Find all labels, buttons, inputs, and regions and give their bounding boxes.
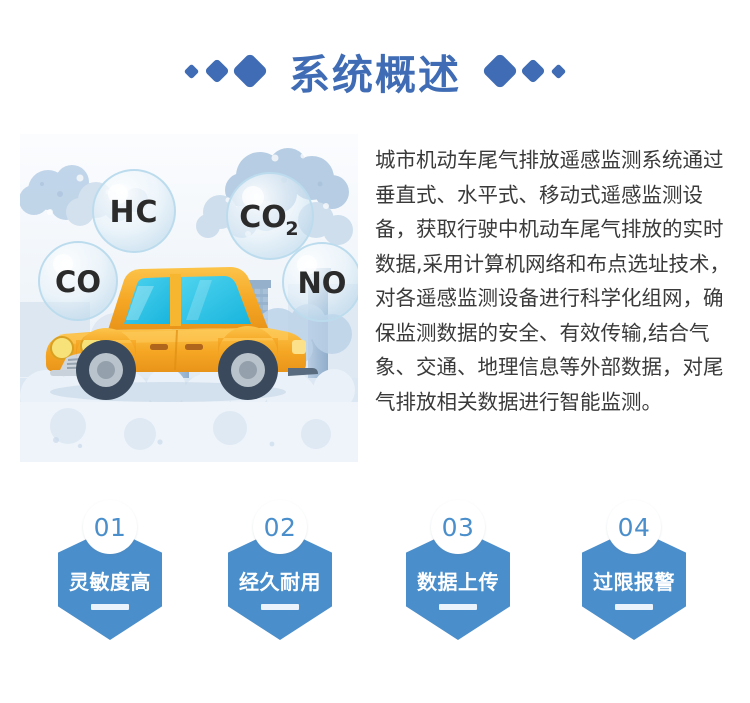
gas-label-co2-sub: 2	[285, 218, 298, 240]
title-diamonds-left	[186, 58, 263, 84]
gas-label-hc: HC	[109, 195, 158, 230]
gas-bubble-co2: CO 2	[227, 173, 313, 259]
feature-underline-02	[261, 604, 299, 610]
diamond-icon-medium-left	[204, 58, 229, 83]
gas-bubble-no: NO	[283, 243, 358, 321]
feature-badge-04[interactable]: 过限报警 04	[582, 500, 686, 645]
feature-number-04: 04	[618, 513, 651, 542]
feature-badges: 灵敏度高 01 经久耐用 02 数据上传 03 过限报警	[0, 500, 750, 660]
feature-number-02: 02	[264, 513, 297, 542]
feature-label-02: 经久耐用	[228, 566, 332, 595]
title-diamonds-right	[487, 58, 564, 84]
car-wheel-front	[76, 340, 136, 400]
feature-number-circle-01: 01	[83, 500, 137, 554]
feature-underline-03	[439, 604, 477, 610]
gas-label-co2: CO	[239, 200, 287, 235]
overview-paragraph: 城市机动车尾气排放遥感监测系统通过垂直式、水平式、移动式遥感监测设备，获取行驶中…	[375, 143, 737, 419]
promo-page: 系统概述	[0, 0, 750, 703]
diamond-icon-large-right	[482, 53, 519, 90]
feature-number-01: 01	[94, 513, 127, 542]
feature-number-circle-02: 02	[253, 500, 307, 554]
page-title: 系统概述	[289, 41, 461, 101]
gas-bubble-co: CO	[39, 242, 117, 320]
diamond-icon-large-left	[232, 53, 269, 90]
feature-label-04: 过限报警	[582, 566, 686, 595]
illustration-svg: HC CO 2 CO NO	[20, 134, 358, 462]
diamond-icon-small-right	[551, 63, 567, 79]
feature-label-01: 灵敏度高	[58, 566, 162, 595]
car-wheel-rear	[218, 340, 278, 400]
diamond-icon-small-left	[184, 63, 200, 79]
feature-badge-01[interactable]: 灵敏度高 01	[58, 500, 162, 645]
feature-underline-04	[615, 604, 653, 610]
gas-label-no: NO	[298, 266, 347, 300]
gas-bubble-hc: HC	[93, 170, 175, 252]
ground-fog	[20, 364, 358, 462]
vehicle-exhaust-illustration: HC CO 2 CO NO	[20, 134, 358, 462]
diamond-icon-medium-right	[520, 58, 545, 83]
feature-underline-01	[91, 604, 129, 610]
gas-label-co: CO	[55, 265, 101, 299]
feature-number-circle-03: 03	[431, 500, 485, 554]
feature-number-03: 03	[442, 513, 475, 542]
page-title-row: 系统概述	[0, 40, 750, 102]
feature-number-circle-04: 04	[607, 500, 661, 554]
feature-badge-02[interactable]: 经久耐用 02	[228, 500, 332, 645]
feature-badge-03[interactable]: 数据上传 03	[406, 500, 510, 645]
feature-label-03: 数据上传	[406, 566, 510, 595]
